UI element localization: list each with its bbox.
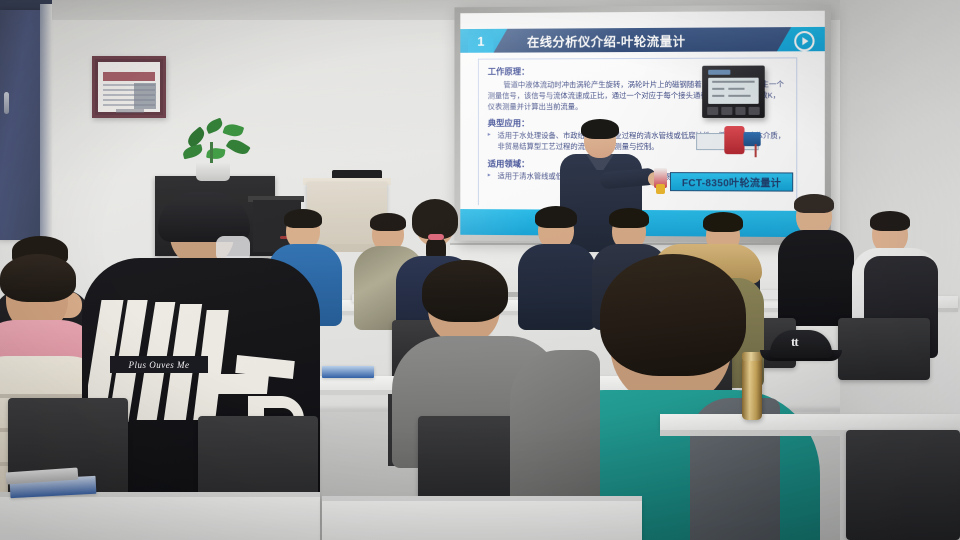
hair [870, 211, 910, 231]
desk-front-right [660, 414, 960, 430]
frame-mat [98, 62, 160, 112]
leaf [222, 122, 244, 139]
hair [794, 194, 834, 213]
certificate-banner [103, 72, 155, 81]
chair [838, 318, 930, 380]
product-label-text: FCT-8350叶轮流量计 [682, 174, 781, 189]
desk-front-center [322, 498, 642, 540]
leaf [182, 144, 204, 160]
hair [703, 212, 743, 232]
meter-brand-logo [708, 70, 730, 75]
leaf [206, 147, 225, 160]
hair [422, 260, 508, 322]
instructor-hair [581, 119, 619, 139]
door-jamb [40, 4, 52, 244]
play-icon[interactable] [794, 31, 814, 51]
hair [412, 199, 458, 239]
meter-buttons [707, 107, 760, 115]
sensor-body-red [724, 126, 744, 154]
certificate-seal [116, 109, 144, 113]
door-left[interactable] [0, 10, 45, 240]
door-handle-icon[interactable] [4, 92, 9, 114]
leaf [226, 136, 251, 158]
chair [846, 430, 960, 540]
classroom-scene: 1 在线分析仪介绍-叶轮流量计 工作原理： 管道中液体流动时冲击涡轮产生旋转，涡… [0, 0, 960, 540]
jacket-script-text: Plus Ouves Me [129, 360, 190, 370]
certificate-photo [134, 83, 156, 109]
torso [518, 244, 596, 330]
torso [778, 230, 854, 326]
digital-meter-image [702, 66, 765, 118]
slide-title: 在线分析仪介绍-叶轮流量计 [527, 30, 777, 50]
jacket-script-tag: Plus Ouves Me [110, 356, 208, 373]
slide-number-badge: 1 [468, 29, 493, 53]
plant-pot [196, 163, 230, 181]
jacket-letter-bar [207, 374, 269, 394]
hair [600, 254, 746, 376]
pipe-flow-sensor-image [696, 124, 773, 158]
gold-thermos [742, 358, 762, 420]
black-cap [158, 192, 250, 242]
slide-number: 1 [477, 33, 484, 48]
sensor-wire [755, 144, 757, 157]
hair [535, 206, 577, 228]
desk-front-left [0, 494, 320, 540]
blue-booklet [322, 366, 374, 378]
product-label: FCT-8350叶轮流量计 [670, 172, 793, 192]
framed-certificate [92, 56, 166, 118]
leaf [204, 118, 224, 135]
cap-logo-text: tt [791, 334, 798, 350]
hair-tie [428, 234, 444, 240]
meter-display [708, 78, 758, 104]
desk-edge [322, 496, 642, 501]
sensor-connector-blue [743, 132, 760, 146]
hair [609, 208, 649, 228]
hair [284, 209, 322, 228]
black-cap-on-desk [770, 330, 832, 358]
thermos-cap [742, 352, 762, 361]
hair [370, 213, 406, 231]
hair [0, 254, 76, 302]
demo-sensor-cap [656, 184, 665, 194]
